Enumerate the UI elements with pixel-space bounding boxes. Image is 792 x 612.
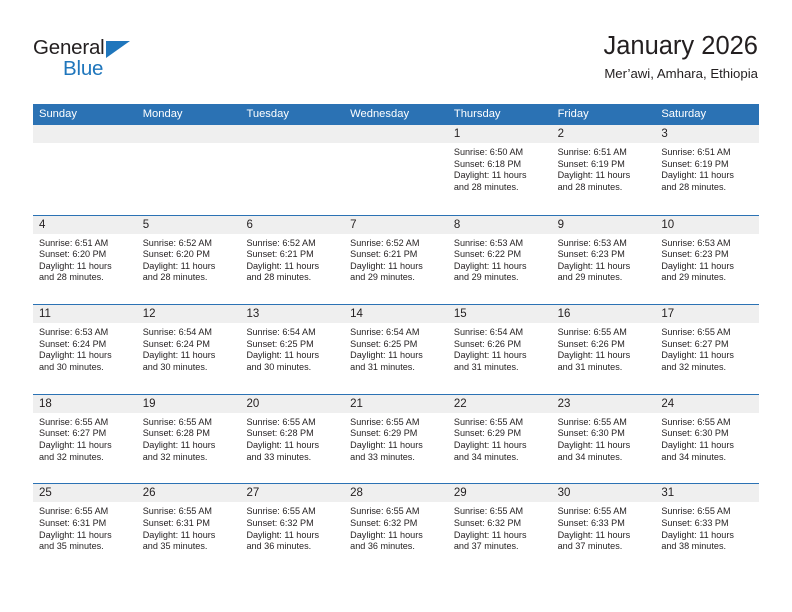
day-number: 4	[33, 216, 137, 234]
day-daylight2-text: and 32 minutes.	[39, 452, 131, 464]
calendar-day-cell[interactable]: 13Sunrise: 6:54 AMSunset: 6:25 PMDayligh…	[240, 305, 344, 394]
day-details: Sunrise: 6:55 AMSunset: 6:31 PMDaylight:…	[137, 502, 241, 552]
day-sunset-text: Sunset: 6:22 PM	[454, 249, 546, 261]
day-details: Sunrise: 6:55 AMSunset: 6:27 PMDaylight:…	[655, 323, 759, 373]
day-number: 16	[552, 305, 656, 323]
day-daylight2-text: and 29 minutes.	[558, 272, 650, 284]
day-sunrise-text: Sunrise: 6:55 AM	[350, 506, 442, 518]
day-daylight1-text: Daylight: 11 hours	[558, 170, 650, 182]
day-details: Sunrise: 6:55 AMSunset: 6:32 PMDaylight:…	[448, 502, 552, 552]
calendar-day-cell[interactable]: 11Sunrise: 6:53 AMSunset: 6:24 PMDayligh…	[33, 305, 137, 394]
day-daylight2-text: and 29 minutes.	[350, 272, 442, 284]
calendar-day-cell[interactable]: 24Sunrise: 6:55 AMSunset: 6:30 PMDayligh…	[655, 395, 759, 484]
day-sunset-text: Sunset: 6:31 PM	[39, 518, 131, 530]
day-sunrise-text: Sunrise: 6:53 AM	[558, 238, 650, 250]
day-sunrise-text: Sunrise: 6:55 AM	[39, 506, 131, 518]
day-details: Sunrise: 6:54 AMSunset: 6:26 PMDaylight:…	[448, 323, 552, 373]
day-daylight2-text: and 34 minutes.	[558, 452, 650, 464]
page-subtitle: Mer’awi, Amhara, Ethiopia	[603, 64, 758, 84]
calendar-day-cell[interactable]: 26Sunrise: 6:55 AMSunset: 6:31 PMDayligh…	[137, 484, 241, 573]
day-number: 10	[655, 216, 759, 234]
day-sunrise-text: Sunrise: 6:55 AM	[143, 506, 235, 518]
day-daylight1-text: Daylight: 11 hours	[661, 170, 753, 182]
dow-monday: Monday	[137, 104, 241, 125]
day-details: Sunrise: 6:54 AMSunset: 6:24 PMDaylight:…	[137, 323, 241, 373]
calendar-day-cell-empty	[240, 125, 344, 215]
calendar-day-cell[interactable]: 27Sunrise: 6:55 AMSunset: 6:32 PMDayligh…	[240, 484, 344, 573]
day-daylight1-text: Daylight: 11 hours	[350, 440, 442, 452]
day-number: 26	[137, 484, 241, 502]
day-sunset-text: Sunset: 6:20 PM	[143, 249, 235, 261]
day-sunrise-text: Sunrise: 6:52 AM	[246, 238, 338, 250]
day-sunrise-text: Sunrise: 6:55 AM	[39, 417, 131, 429]
calendar-day-cell[interactable]: 19Sunrise: 6:55 AMSunset: 6:28 PMDayligh…	[137, 395, 241, 484]
day-number: 24	[655, 395, 759, 413]
day-sunset-text: Sunset: 6:19 PM	[661, 159, 753, 171]
calendar-day-cell[interactable]: 7Sunrise: 6:52 AMSunset: 6:21 PMDaylight…	[344, 216, 448, 305]
calendar-week-row: 18Sunrise: 6:55 AMSunset: 6:27 PMDayligh…	[33, 394, 759, 484]
day-daylight2-text: and 35 minutes.	[39, 541, 131, 553]
day-sunset-text: Sunset: 6:19 PM	[558, 159, 650, 171]
calendar-day-cell[interactable]: 10Sunrise: 6:53 AMSunset: 6:23 PMDayligh…	[655, 216, 759, 305]
day-number	[240, 125, 344, 143]
day-daylight1-text: Daylight: 11 hours	[246, 350, 338, 362]
calendar-day-cell[interactable]: 28Sunrise: 6:55 AMSunset: 6:32 PMDayligh…	[344, 484, 448, 573]
calendar-day-cell[interactable]: 8Sunrise: 6:53 AMSunset: 6:22 PMDaylight…	[448, 216, 552, 305]
day-sunset-text: Sunset: 6:18 PM	[454, 159, 546, 171]
day-details: Sunrise: 6:55 AMSunset: 6:31 PMDaylight:…	[33, 502, 137, 552]
day-details: Sunrise: 6:52 AMSunset: 6:21 PMDaylight:…	[344, 234, 448, 284]
page-title: January 2026	[603, 30, 758, 62]
day-sunset-text: Sunset: 6:27 PM	[39, 428, 131, 440]
day-sunrise-text: Sunrise: 6:55 AM	[143, 417, 235, 429]
day-number	[344, 125, 448, 143]
calendar-day-cell-empty	[137, 125, 241, 215]
day-sunrise-text: Sunrise: 6:55 AM	[661, 327, 753, 339]
calendar-week-row: 25Sunrise: 6:55 AMSunset: 6:31 PMDayligh…	[33, 483, 759, 573]
day-number: 7	[344, 216, 448, 234]
day-sunrise-text: Sunrise: 6:54 AM	[350, 327, 442, 339]
day-details: Sunrise: 6:55 AMSunset: 6:33 PMDaylight:…	[655, 502, 759, 552]
day-daylight2-text: and 30 minutes.	[39, 362, 131, 374]
day-number: 23	[552, 395, 656, 413]
day-sunset-text: Sunset: 6:33 PM	[558, 518, 650, 530]
day-details: Sunrise: 6:55 AMSunset: 6:29 PMDaylight:…	[448, 413, 552, 463]
day-number: 17	[655, 305, 759, 323]
day-sunset-text: Sunset: 6:27 PM	[661, 339, 753, 351]
dow-tuesday: Tuesday	[240, 104, 344, 125]
day-sunset-text: Sunset: 6:25 PM	[246, 339, 338, 351]
calendar-day-cell[interactable]: 22Sunrise: 6:55 AMSunset: 6:29 PMDayligh…	[448, 395, 552, 484]
day-daylight1-text: Daylight: 11 hours	[454, 170, 546, 182]
day-details: Sunrise: 6:55 AMSunset: 6:28 PMDaylight:…	[137, 413, 241, 463]
day-sunset-text: Sunset: 6:33 PM	[661, 518, 753, 530]
calendar-day-cell[interactable]: 15Sunrise: 6:54 AMSunset: 6:26 PMDayligh…	[448, 305, 552, 394]
day-details: Sunrise: 6:53 AMSunset: 6:24 PMDaylight:…	[33, 323, 137, 373]
day-daylight2-text: and 33 minutes.	[246, 452, 338, 464]
title-block: January 2026 Mer’awi, Amhara, Ethiopia	[603, 30, 758, 84]
day-sunset-text: Sunset: 6:32 PM	[350, 518, 442, 530]
day-daylight2-text: and 30 minutes.	[143, 362, 235, 374]
calendar-day-cell[interactable]: 1Sunrise: 6:50 AMSunset: 6:18 PMDaylight…	[448, 125, 552, 215]
day-daylight1-text: Daylight: 11 hours	[143, 440, 235, 452]
day-sunset-text: Sunset: 6:29 PM	[454, 428, 546, 440]
triangle-icon	[106, 41, 130, 58]
day-details: Sunrise: 6:53 AMSunset: 6:22 PMDaylight:…	[448, 234, 552, 284]
day-number: 31	[655, 484, 759, 502]
day-sunrise-text: Sunrise: 6:55 AM	[350, 417, 442, 429]
day-sunset-text: Sunset: 6:21 PM	[246, 249, 338, 261]
day-sunset-text: Sunset: 6:28 PM	[246, 428, 338, 440]
calendar-day-cell[interactable]: 20Sunrise: 6:55 AMSunset: 6:28 PMDayligh…	[240, 395, 344, 484]
day-sunrise-text: Sunrise: 6:54 AM	[246, 327, 338, 339]
day-details: Sunrise: 6:51 AMSunset: 6:19 PMDaylight:…	[552, 143, 656, 193]
day-number: 28	[344, 484, 448, 502]
day-number: 11	[33, 305, 137, 323]
day-daylight2-text: and 31 minutes.	[350, 362, 442, 374]
day-number: 21	[344, 395, 448, 413]
day-sunrise-text: Sunrise: 6:51 AM	[558, 147, 650, 159]
dow-wednesday: Wednesday	[344, 104, 448, 125]
day-sunrise-text: Sunrise: 6:55 AM	[558, 417, 650, 429]
day-sunrise-text: Sunrise: 6:55 AM	[246, 417, 338, 429]
day-number: 6	[240, 216, 344, 234]
day-daylight2-text: and 37 minutes.	[558, 541, 650, 553]
day-number	[33, 125, 137, 143]
calendar-day-cell[interactable]: 21Sunrise: 6:55 AMSunset: 6:29 PMDayligh…	[344, 395, 448, 484]
day-number: 5	[137, 216, 241, 234]
dow-thursday: Thursday	[448, 104, 552, 125]
dow-sunday: Sunday	[33, 104, 137, 125]
generalblue-logo[interactable]: General Blue	[33, 36, 153, 84]
calendar-day-cell[interactable]: 29Sunrise: 6:55 AMSunset: 6:32 PMDayligh…	[448, 484, 552, 573]
day-details: Sunrise: 6:54 AMSunset: 6:25 PMDaylight:…	[240, 323, 344, 373]
day-daylight2-text: and 32 minutes.	[143, 452, 235, 464]
day-daylight1-text: Daylight: 11 hours	[39, 530, 131, 542]
day-sunrise-text: Sunrise: 6:55 AM	[454, 506, 546, 518]
day-daylight1-text: Daylight: 11 hours	[558, 440, 650, 452]
dow-friday: Friday	[552, 104, 656, 125]
day-daylight2-text: and 34 minutes.	[661, 452, 753, 464]
day-daylight1-text: Daylight: 11 hours	[350, 350, 442, 362]
day-daylight2-text: and 28 minutes.	[39, 272, 131, 284]
day-daylight2-text: and 28 minutes.	[246, 272, 338, 284]
day-daylight2-text: and 38 minutes.	[661, 541, 753, 553]
day-daylight1-text: Daylight: 11 hours	[454, 440, 546, 452]
day-daylight1-text: Daylight: 11 hours	[246, 440, 338, 452]
day-number: 27	[240, 484, 344, 502]
day-sunrise-text: Sunrise: 6:51 AM	[39, 238, 131, 250]
day-number: 2	[552, 125, 656, 143]
day-sunset-text: Sunset: 6:24 PM	[39, 339, 131, 351]
day-daylight1-text: Daylight: 11 hours	[39, 440, 131, 452]
day-sunset-text: Sunset: 6:23 PM	[661, 249, 753, 261]
calendar-day-cell[interactable]: 17Sunrise: 6:55 AMSunset: 6:27 PMDayligh…	[655, 305, 759, 394]
day-details: Sunrise: 6:55 AMSunset: 6:29 PMDaylight:…	[344, 413, 448, 463]
day-details: Sunrise: 6:51 AMSunset: 6:20 PMDaylight:…	[33, 234, 137, 284]
calendar-day-cell-empty	[33, 125, 137, 215]
day-of-week-header-row: Sunday Monday Tuesday Wednesday Thursday…	[33, 104, 759, 125]
day-number: 30	[552, 484, 656, 502]
day-daylight2-text: and 29 minutes.	[454, 272, 546, 284]
day-daylight2-text: and 34 minutes.	[454, 452, 546, 464]
day-daylight2-text: and 28 minutes.	[143, 272, 235, 284]
day-sunset-text: Sunset: 6:21 PM	[350, 249, 442, 261]
day-sunrise-text: Sunrise: 6:53 AM	[454, 238, 546, 250]
calendar-week-row: 4Sunrise: 6:51 AMSunset: 6:20 PMDaylight…	[33, 215, 759, 305]
day-details: Sunrise: 6:55 AMSunset: 6:30 PMDaylight:…	[655, 413, 759, 463]
day-daylight1-text: Daylight: 11 hours	[246, 530, 338, 542]
day-sunset-text: Sunset: 6:30 PM	[558, 428, 650, 440]
day-sunrise-text: Sunrise: 6:55 AM	[454, 417, 546, 429]
day-daylight1-text: Daylight: 11 hours	[661, 350, 753, 362]
day-number: 9	[552, 216, 656, 234]
day-daylight1-text: Daylight: 11 hours	[454, 261, 546, 273]
calendar-day-cell[interactable]: 12Sunrise: 6:54 AMSunset: 6:24 PMDayligh…	[137, 305, 241, 394]
day-details: Sunrise: 6:53 AMSunset: 6:23 PMDaylight:…	[655, 234, 759, 284]
day-sunset-text: Sunset: 6:25 PM	[350, 339, 442, 351]
logo-text-blue: Blue	[63, 57, 103, 81]
day-sunset-text: Sunset: 6:31 PM	[143, 518, 235, 530]
day-daylight1-text: Daylight: 11 hours	[558, 350, 650, 362]
day-details: Sunrise: 6:52 AMSunset: 6:21 PMDaylight:…	[240, 234, 344, 284]
calendar-day-cell[interactable]: 18Sunrise: 6:55 AMSunset: 6:27 PMDayligh…	[33, 395, 137, 484]
day-sunrise-text: Sunrise: 6:52 AM	[143, 238, 235, 250]
day-details: Sunrise: 6:54 AMSunset: 6:25 PMDaylight:…	[344, 323, 448, 373]
day-sunset-text: Sunset: 6:30 PM	[661, 428, 753, 440]
day-number	[137, 125, 241, 143]
day-daylight1-text: Daylight: 11 hours	[143, 530, 235, 542]
calendar-day-cell[interactable]: 2Sunrise: 6:51 AMSunset: 6:19 PMDaylight…	[552, 125, 656, 215]
day-sunrise-text: Sunrise: 6:55 AM	[246, 506, 338, 518]
day-daylight1-text: Daylight: 11 hours	[558, 261, 650, 273]
day-number: 8	[448, 216, 552, 234]
day-daylight2-text: and 29 minutes.	[661, 272, 753, 284]
day-daylight1-text: Daylight: 11 hours	[661, 440, 753, 452]
day-daylight2-text: and 31 minutes.	[558, 362, 650, 374]
day-sunset-text: Sunset: 6:20 PM	[39, 249, 131, 261]
day-sunset-text: Sunset: 6:32 PM	[454, 518, 546, 530]
day-daylight2-text: and 37 minutes.	[454, 541, 546, 553]
day-sunrise-text: Sunrise: 6:50 AM	[454, 147, 546, 159]
day-number: 12	[137, 305, 241, 323]
day-daylight1-text: Daylight: 11 hours	[350, 261, 442, 273]
day-daylight2-text: and 28 minutes.	[454, 182, 546, 194]
calendar-week-row: 1Sunrise: 6:50 AMSunset: 6:18 PMDaylight…	[33, 125, 759, 215]
day-sunrise-text: Sunrise: 6:53 AM	[39, 327, 131, 339]
day-number: 18	[33, 395, 137, 413]
calendar-weeks: 1Sunrise: 6:50 AMSunset: 6:18 PMDaylight…	[33, 125, 759, 573]
dow-saturday: Saturday	[655, 104, 759, 125]
day-daylight1-text: Daylight: 11 hours	[661, 530, 753, 542]
day-daylight2-text: and 35 minutes.	[143, 541, 235, 553]
day-details: Sunrise: 6:51 AMSunset: 6:19 PMDaylight:…	[655, 143, 759, 193]
day-number: 22	[448, 395, 552, 413]
calendar-day-cell[interactable]: 9Sunrise: 6:53 AMSunset: 6:23 PMDaylight…	[552, 216, 656, 305]
calendar-week-row: 11Sunrise: 6:53 AMSunset: 6:24 PMDayligh…	[33, 304, 759, 394]
calendar-day-cell[interactable]: 5Sunrise: 6:52 AMSunset: 6:20 PMDaylight…	[137, 216, 241, 305]
day-daylight1-text: Daylight: 11 hours	[350, 530, 442, 542]
day-number: 13	[240, 305, 344, 323]
day-details: Sunrise: 6:55 AMSunset: 6:32 PMDaylight:…	[344, 502, 448, 552]
calendar-page: General Blue January 2026 Mer’awi, Amhar…	[0, 0, 792, 612]
calendar-grid: Sunday Monday Tuesday Wednesday Thursday…	[33, 104, 759, 573]
page-header: General Blue January 2026 Mer’awi, Amhar…	[0, 0, 792, 104]
day-daylight2-text: and 28 minutes.	[661, 182, 753, 194]
day-daylight2-text: and 31 minutes.	[454, 362, 546, 374]
day-number: 29	[448, 484, 552, 502]
day-sunrise-text: Sunrise: 6:55 AM	[661, 417, 753, 429]
day-daylight2-text: and 36 minutes.	[246, 541, 338, 553]
day-daylight2-text: and 36 minutes.	[350, 541, 442, 553]
day-details: Sunrise: 6:55 AMSunset: 6:30 PMDaylight:…	[552, 413, 656, 463]
day-daylight1-text: Daylight: 11 hours	[143, 350, 235, 362]
day-sunset-text: Sunset: 6:32 PM	[246, 518, 338, 530]
calendar-day-cell[interactable]: 3Sunrise: 6:51 AMSunset: 6:19 PMDaylight…	[655, 125, 759, 215]
day-sunset-text: Sunset: 6:26 PM	[454, 339, 546, 351]
day-sunset-text: Sunset: 6:24 PM	[143, 339, 235, 351]
day-details: Sunrise: 6:50 AMSunset: 6:18 PMDaylight:…	[448, 143, 552, 193]
day-details: Sunrise: 6:55 AMSunset: 6:27 PMDaylight:…	[33, 413, 137, 463]
day-daylight1-text: Daylight: 11 hours	[143, 261, 235, 273]
day-number: 3	[655, 125, 759, 143]
day-details: Sunrise: 6:52 AMSunset: 6:20 PMDaylight:…	[137, 234, 241, 284]
day-sunrise-text: Sunrise: 6:55 AM	[661, 506, 753, 518]
day-number: 14	[344, 305, 448, 323]
calendar-day-cell[interactable]: 30Sunrise: 6:55 AMSunset: 6:33 PMDayligh…	[552, 484, 656, 573]
day-sunset-text: Sunset: 6:28 PM	[143, 428, 235, 440]
day-number: 25	[33, 484, 137, 502]
calendar-day-cell[interactable]: 31Sunrise: 6:55 AMSunset: 6:33 PMDayligh…	[655, 484, 759, 573]
day-number: 15	[448, 305, 552, 323]
day-details: Sunrise: 6:55 AMSunset: 6:33 PMDaylight:…	[552, 502, 656, 552]
calendar-day-cell[interactable]: 25Sunrise: 6:55 AMSunset: 6:31 PMDayligh…	[33, 484, 137, 573]
day-daylight1-text: Daylight: 11 hours	[39, 261, 131, 273]
calendar-day-cell[interactable]: 6Sunrise: 6:52 AMSunset: 6:21 PMDaylight…	[240, 216, 344, 305]
day-daylight1-text: Daylight: 11 hours	[558, 530, 650, 542]
day-sunrise-text: Sunrise: 6:52 AM	[350, 238, 442, 250]
day-number: 19	[137, 395, 241, 413]
day-sunrise-text: Sunrise: 6:53 AM	[661, 238, 753, 250]
day-sunrise-text: Sunrise: 6:51 AM	[661, 147, 753, 159]
day-number: 20	[240, 395, 344, 413]
day-details: Sunrise: 6:55 AMSunset: 6:28 PMDaylight:…	[240, 413, 344, 463]
day-daylight2-text: and 32 minutes.	[661, 362, 753, 374]
day-daylight1-text: Daylight: 11 hours	[661, 261, 753, 273]
day-sunrise-text: Sunrise: 6:54 AM	[143, 327, 235, 339]
day-daylight1-text: Daylight: 11 hours	[246, 261, 338, 273]
day-daylight2-text: and 30 minutes.	[246, 362, 338, 374]
day-daylight1-text: Daylight: 11 hours	[39, 350, 131, 362]
calendar-day-cell[interactable]: 23Sunrise: 6:55 AMSunset: 6:30 PMDayligh…	[552, 395, 656, 484]
calendar-day-cell[interactable]: 14Sunrise: 6:54 AMSunset: 6:25 PMDayligh…	[344, 305, 448, 394]
day-sunrise-text: Sunrise: 6:54 AM	[454, 327, 546, 339]
calendar-day-cell-empty	[344, 125, 448, 215]
day-daylight2-text: and 28 minutes.	[558, 182, 650, 194]
day-details: Sunrise: 6:55 AMSunset: 6:26 PMDaylight:…	[552, 323, 656, 373]
day-details: Sunrise: 6:53 AMSunset: 6:23 PMDaylight:…	[552, 234, 656, 284]
calendar-day-cell[interactable]: 16Sunrise: 6:55 AMSunset: 6:26 PMDayligh…	[552, 305, 656, 394]
day-sunset-text: Sunset: 6:29 PM	[350, 428, 442, 440]
day-number: 1	[448, 125, 552, 143]
day-sunrise-text: Sunrise: 6:55 AM	[558, 327, 650, 339]
day-sunrise-text: Sunrise: 6:55 AM	[558, 506, 650, 518]
day-daylight1-text: Daylight: 11 hours	[454, 530, 546, 542]
calendar-day-cell[interactable]: 4Sunrise: 6:51 AMSunset: 6:20 PMDaylight…	[33, 216, 137, 305]
day-details: Sunrise: 6:55 AMSunset: 6:32 PMDaylight:…	[240, 502, 344, 552]
day-daylight2-text: and 33 minutes.	[350, 452, 442, 464]
day-daylight1-text: Daylight: 11 hours	[454, 350, 546, 362]
day-sunset-text: Sunset: 6:26 PM	[558, 339, 650, 351]
day-sunset-text: Sunset: 6:23 PM	[558, 249, 650, 261]
